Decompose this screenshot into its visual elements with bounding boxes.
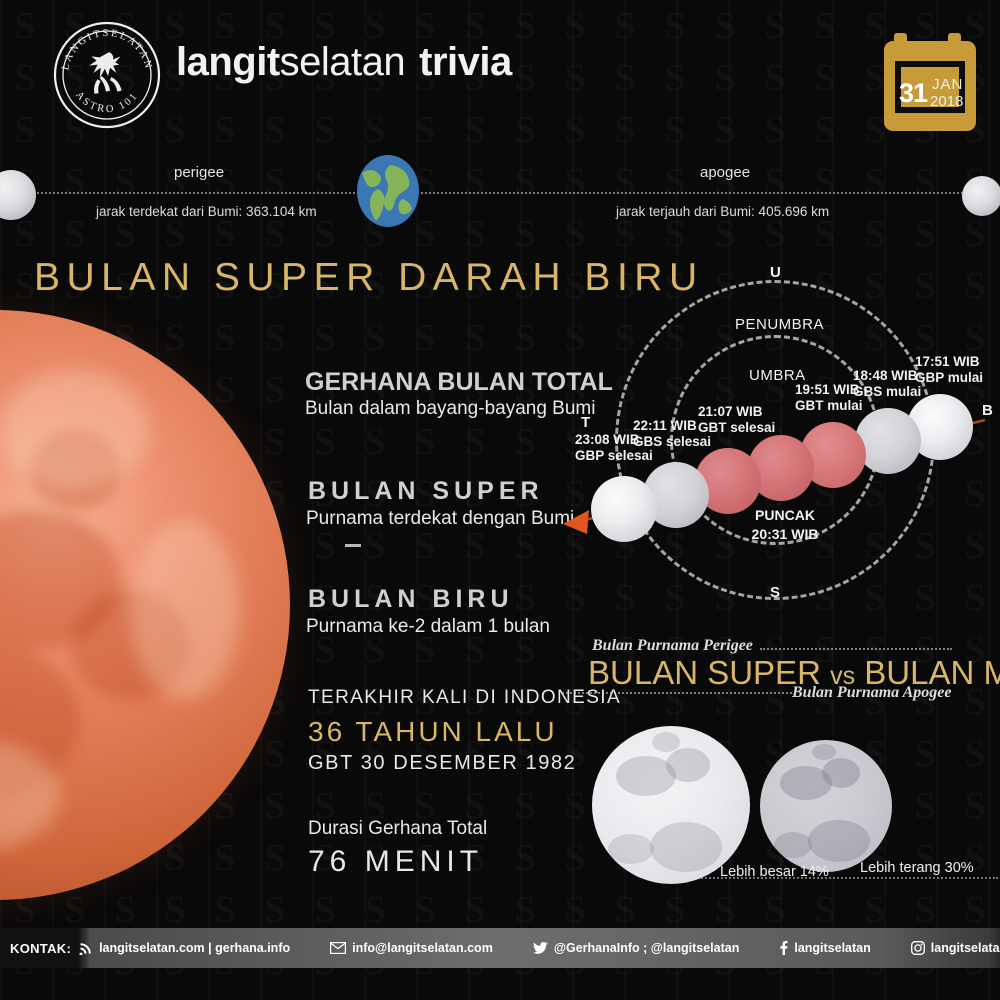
brand-trivia: trivia xyxy=(419,40,512,84)
peak-label: PUNCAK 20:31 WIB xyxy=(730,506,840,544)
infographic-canvas: SSSSSSSSSSSSSSSSSSSSSSSSSSSSSSSSSSSSSSSS… xyxy=(0,0,1000,1000)
footer-item-website[interactable]: langitselatan.com | gerhana.info xyxy=(79,941,290,955)
phase-time-gbt-mulai: 19:51 WIB xyxy=(795,382,860,397)
axis-label-utara: U xyxy=(770,264,781,281)
supermoon-illustration xyxy=(592,726,750,884)
axis-label-timur: T xyxy=(581,414,590,431)
eclipse-path-diagram: U S T B PENUMBRA UMBRA 23:08 WIB GBP sel… xyxy=(555,272,1000,612)
footer-item-email[interactable]: info@langitselatan.com xyxy=(330,941,493,955)
comparison-top-dotline xyxy=(760,648,952,650)
apogee-distance: jarak terjauh dari Bumi: 405.696 km xyxy=(616,204,829,219)
earth-globe-icon xyxy=(354,155,422,227)
phase-event-gbp-mulai: GBP mulai xyxy=(915,370,983,385)
apogee-moon xyxy=(962,176,1000,216)
last-occurrence-value: 36 TAHUN LALU xyxy=(308,716,558,748)
feature-heading-bulan-super: BULAN SUPER xyxy=(308,477,544,506)
duration-label: Durasi Gerhana Total xyxy=(308,818,487,840)
calendar-year: 2018 xyxy=(930,93,963,110)
comparison-bottom-dotline xyxy=(562,692,792,694)
phase-event-gbp-selesai: GBP selesai xyxy=(575,448,653,463)
footer-text-email: info@langitselatan.com xyxy=(352,941,493,955)
instagram-icon xyxy=(911,941,925,955)
axis-label-selatan: S xyxy=(770,584,780,601)
duration-value: 76 MENIT xyxy=(308,845,483,879)
minimoon-illustration xyxy=(760,740,892,872)
footer-item-instagram[interactable]: langitselatanmedia xyxy=(911,941,1000,955)
phase-event-gbt-selesai: GBT selesai xyxy=(698,420,775,435)
phase-moon-gbp-selesai xyxy=(591,476,657,542)
comparison-size-caption: Lebih besar 14% xyxy=(720,864,829,880)
comparison-brightness-caption: Lebih terang 30% xyxy=(860,860,974,876)
brand-selatan: selatan xyxy=(280,40,405,84)
orbit-dotted-line xyxy=(30,192,975,194)
comparison-apogee-label: Bulan Purnama Apogee xyxy=(792,684,951,702)
footer-item-facebook[interactable]: langitselatan xyxy=(779,941,870,955)
phase-label-gbt-selesai: 21:07 WIB GBT selesai xyxy=(698,404,775,436)
blood-moon-illustration xyxy=(0,310,290,900)
phase-time-gbp-mulai: 17:51 WIB xyxy=(915,354,980,369)
phase-event-gbs-selesai: GBS selesai xyxy=(633,434,711,449)
feature-sub-bulan-biru: Purnama ke-2 dalam 1 bulan xyxy=(306,616,550,638)
last-occurrence-detail: GBT 30 DESEMBER 1982 xyxy=(308,752,576,775)
calendar-month: JAN xyxy=(932,76,963,93)
footer-kontak-label: KONTAK: xyxy=(0,941,71,956)
super-vs-mini-comparison: Bulan Purnama Perigee BULAN SUPER vs BUL… xyxy=(560,630,1000,900)
footer-item-twitter[interactable]: @GerhanaInfo ; @langitselatan xyxy=(533,941,740,955)
phase-label-gbp-mulai: 17:51 WIB GBP mulai xyxy=(915,354,983,386)
apogee-label: apogee xyxy=(700,164,750,181)
calendar-day: 31 xyxy=(899,78,927,109)
perigee-label: perigee xyxy=(174,164,224,181)
axis-label-barat: B xyxy=(982,402,993,419)
phase-time-gbp-selesai: 23:08 WIB xyxy=(575,432,640,447)
footer-text-twitter: @GerhanaInfo ; @langitselatan xyxy=(554,941,740,955)
peak-time: 20:31 WIB xyxy=(752,526,819,542)
phase-event-gbt-mulai: GBT mulai xyxy=(795,398,863,413)
phase-label-gbs-mulai: 18:48 WIB GBS mulai xyxy=(853,368,921,400)
footer-text-facebook: langitselatan xyxy=(794,941,870,955)
comparison-perigee-label: Bulan Purnama Perigee xyxy=(592,637,753,655)
footer-contact-bar: KONTAK: langitselatan.com | gerhana.info… xyxy=(0,928,1000,968)
feature-sub-gerhana-bulan-total: Bulan dalam bayang-bayang Bumi xyxy=(305,398,595,420)
facebook-icon xyxy=(779,941,788,955)
rss-icon xyxy=(79,941,93,955)
phase-moon-gbs-mulai xyxy=(855,408,921,474)
twitter-icon xyxy=(533,942,548,955)
phase-event-gbs-mulai: GBS mulai xyxy=(853,384,921,399)
perigee-apogee-strip: perigee jarak terdekat dari Bumi: 363.10… xyxy=(0,150,1000,245)
footer-text-instagram: langitselatanmedia xyxy=(931,941,1000,955)
comparison-title-super: BULAN SUPER xyxy=(588,654,821,691)
peak-text: PUNCAK xyxy=(755,507,815,523)
langitselatan-logo: LANGITSELATAN ASTRO 101 xyxy=(52,20,162,130)
perigee-moon xyxy=(0,170,36,220)
footer-text-website: langitselatan.com | gerhana.info xyxy=(99,941,290,955)
feature-heading-bulan-biru: BULAN BIRU xyxy=(308,585,514,614)
brand-langit: langit xyxy=(176,40,280,84)
feature-sub-bulan-super: Purnama terdekat dengan Bumi xyxy=(306,508,574,530)
separator-dash xyxy=(345,544,361,547)
phase-time-gbs-selesai: 22:11 WIB xyxy=(633,418,697,433)
penumbra-label: PENUMBRA xyxy=(735,316,824,333)
perigee-distance: jarak terdekat dari Bumi: 363.104 km xyxy=(96,204,317,219)
phase-time-gbt-selesai: 21:07 WIB xyxy=(698,404,763,419)
email-icon xyxy=(330,942,346,954)
header: LANGITSELATAN ASTRO 101 langitselatantri… xyxy=(0,0,1000,150)
brand-title: langitselatantrivia xyxy=(176,40,512,85)
phase-time-gbs-mulai: 18:48 WIB xyxy=(853,368,918,383)
